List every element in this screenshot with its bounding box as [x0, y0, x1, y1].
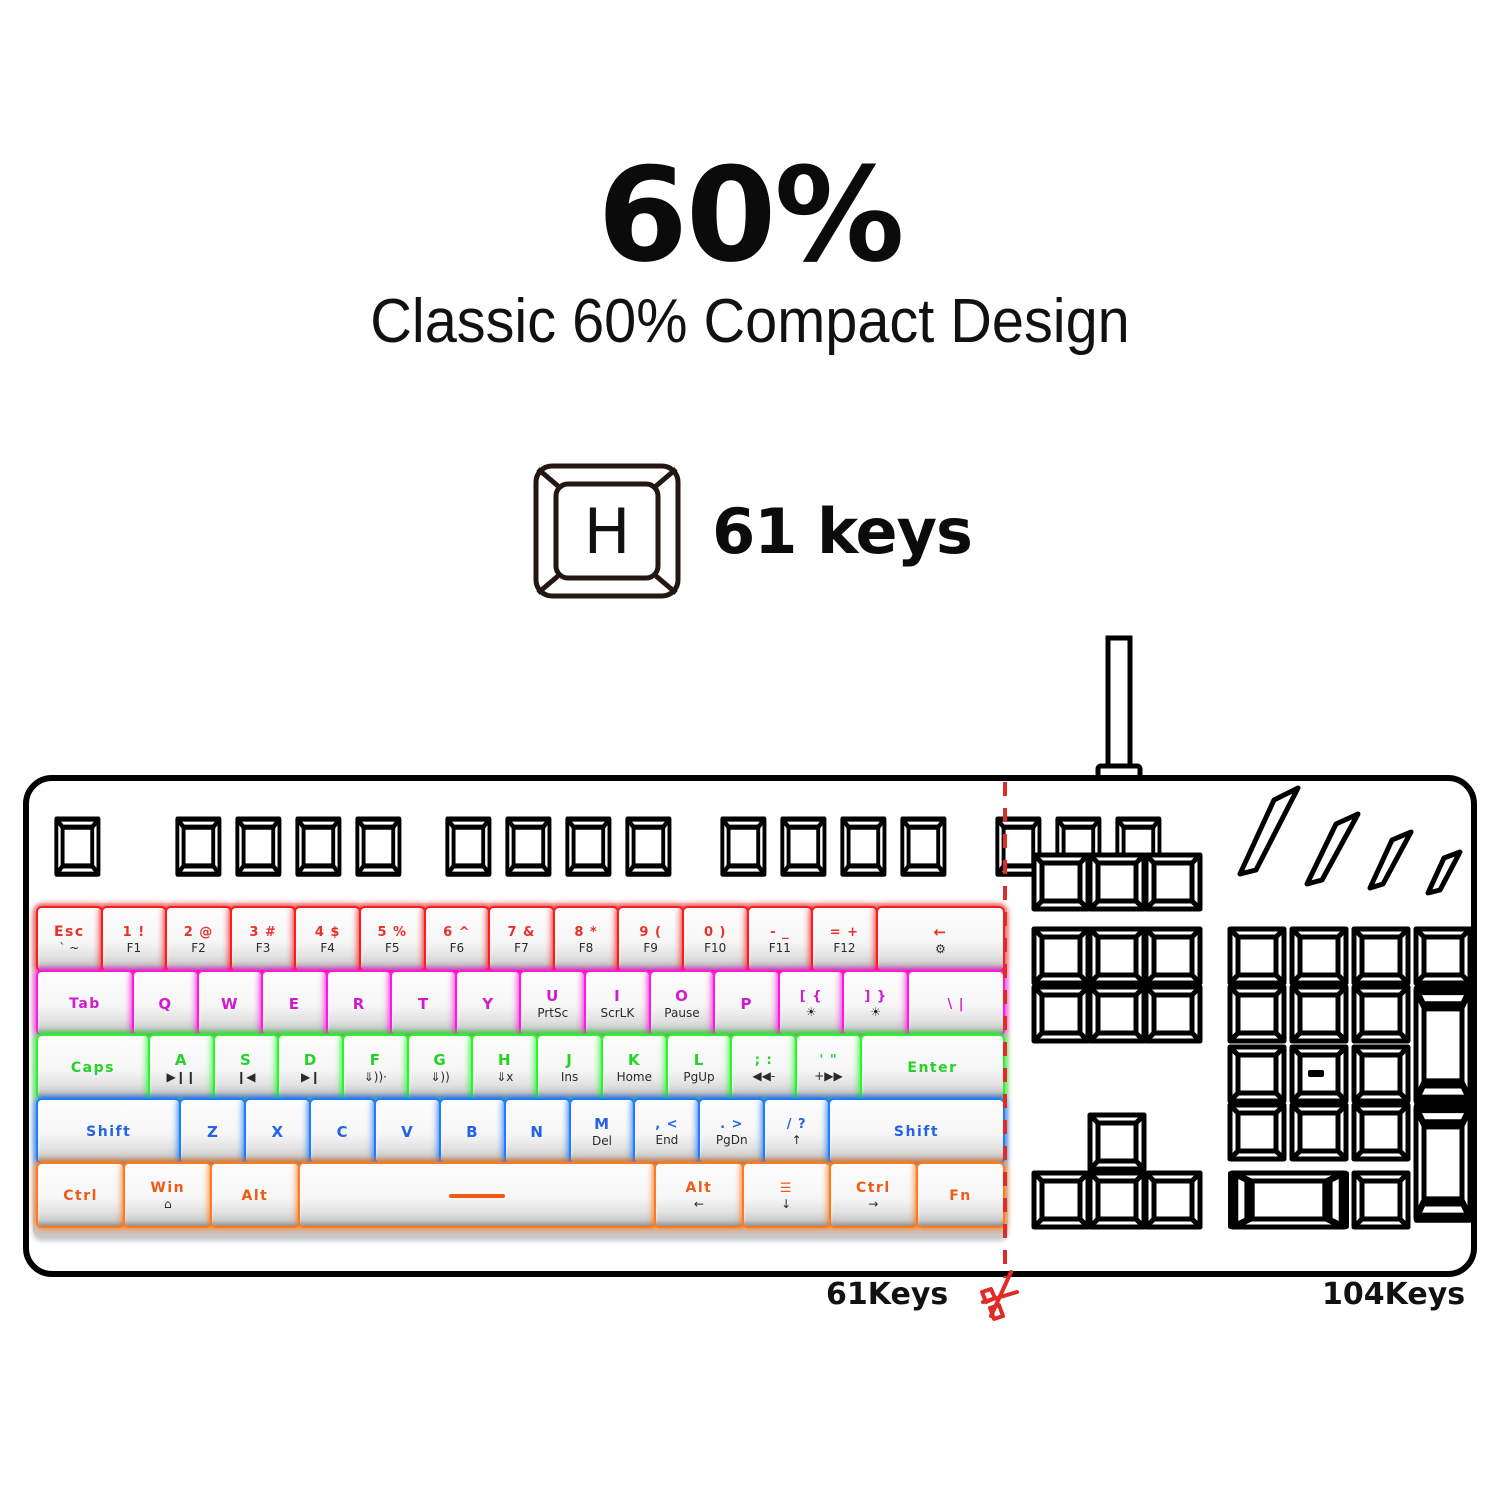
- menu-icon: ☰: [780, 1182, 793, 1195]
- key-legend-top: Y: [482, 997, 494, 1012]
- key-tab[interactable]: Tab: [38, 972, 132, 1034]
- key-legend-bottom: F10: [704, 942, 726, 955]
- key-f[interactable]: F ⇓))·: [344, 1036, 407, 1098]
- key-legend-top: Shift: [894, 1125, 939, 1139]
- key-shift-left[interactable]: Shift: [38, 1100, 179, 1162]
- key-legend-top: S: [240, 1053, 252, 1068]
- key-k[interactable]: K Home: [603, 1036, 666, 1098]
- key-i[interactable]: I ScrLK: [586, 972, 649, 1034]
- usb-cable-icon: [1098, 638, 1140, 780]
- brightness-up-icon: ☀: [806, 1006, 817, 1019]
- key-legend-top: 3 #: [249, 926, 276, 939]
- label-61-keys: 61Keys: [826, 1277, 948, 1312]
- scissors-icon: [965, 1262, 1037, 1334]
- key-legend-top: , <: [655, 1118, 678, 1131]
- keycap-icon: H: [528, 460, 686, 602]
- key-g[interactable]: G ⇓)): [409, 1036, 472, 1098]
- key-legend-top: T: [418, 997, 429, 1012]
- key-enter[interactable]: Enter: [862, 1036, 1003, 1098]
- key-m[interactable]: M Del: [571, 1100, 634, 1162]
- key-legend-top: \ |: [947, 998, 964, 1011]
- key-alt-right[interactable]: Alt ←: [656, 1164, 741, 1226]
- key-3[interactable]: 3 # F3: [232, 908, 295, 970]
- key-legend-top: Alt: [686, 1181, 713, 1195]
- key-legend-bottom: Ins: [561, 1071, 578, 1084]
- key-win[interactable]: Win ⌂: [125, 1164, 210, 1226]
- key-c[interactable]: C: [311, 1100, 374, 1162]
- key-legend-top: Q: [158, 997, 172, 1012]
- key-legend-top: Alt: [242, 1189, 269, 1203]
- rewind-icon: ◀◀-: [752, 1070, 775, 1083]
- arrow-up-icon: ↑: [792, 1134, 802, 1147]
- arrow-right-icon: →: [868, 1198, 878, 1211]
- key-legend-bottom: Home: [617, 1071, 652, 1084]
- key-legend-top: 6 ^: [443, 926, 470, 939]
- key-legend-bottom: Del: [592, 1135, 612, 1148]
- key-a[interactable]: A ▶❙❙: [150, 1036, 213, 1098]
- key-legend-top: Z: [207, 1125, 219, 1140]
- key-legend-top: N: [530, 1125, 544, 1140]
- key-legend-bottom: F2: [191, 942, 206, 955]
- keyboard-row-caps: Caps A ▶❙❙ S ❙◀ D ▶❙ F ⇓))· G ⇓)): [38, 1036, 1003, 1098]
- gear-icon: ⚙: [935, 943, 946, 956]
- key-5[interactable]: 5 % F5: [361, 908, 424, 970]
- key-legend-bottom: PgUp: [683, 1071, 714, 1084]
- key-legend-bottom: ScrLK: [601, 1007, 635, 1020]
- key-legend-bottom: End: [655, 1134, 678, 1147]
- key-v[interactable]: V: [376, 1100, 439, 1162]
- key-u[interactable]: U PrtSc: [521, 972, 584, 1034]
- key-legend-top: F: [370, 1053, 381, 1068]
- key-quote[interactable]: ' " +▶▶: [797, 1036, 860, 1098]
- key-6[interactable]: 6 ^ F6: [426, 908, 489, 970]
- keyboard-row-numbers: Esc ` ~ 1 ! F1 2 @ F2 3 # F3 4 $ F4 5 % …: [38, 908, 1003, 970]
- key-legend-bottom: F8: [579, 942, 594, 955]
- key-esc[interactable]: Esc ` ~: [38, 908, 101, 970]
- key-legend-top: Shift: [86, 1125, 131, 1139]
- arrow-down-icon: ↓: [781, 1198, 791, 1211]
- key-slash[interactable]: / ? ↑: [765, 1100, 828, 1162]
- rgb-60-percent-keyboard[interactable]: Esc ` ~ 1 ! F1 2 @ F2 3 # F3 4 $ F4 5 % …: [33, 903, 1008, 1238]
- key-ctrl-left[interactable]: Ctrl: [38, 1164, 123, 1226]
- keyboard-row-tab: Tab Q W E R T Y U PrtSc: [38, 972, 1003, 1034]
- key-minus[interactable]: - _ F11: [749, 908, 812, 970]
- key-legend-top: O: [675, 989, 689, 1004]
- key-r[interactable]: R: [328, 972, 391, 1034]
- key-l[interactable]: L PgUp: [668, 1036, 731, 1098]
- key-legend-top: = +: [830, 926, 859, 939]
- key-legend-top: G: [433, 1053, 446, 1068]
- key-capslock[interactable]: Caps: [38, 1036, 148, 1098]
- key-legend-bottom: Pause: [664, 1007, 699, 1020]
- key-1[interactable]: 1 ! F1: [103, 908, 166, 970]
- key-count-label: 61 keys: [712, 495, 972, 568]
- page-subtitle: Classic 60% Compact Design: [53, 288, 1448, 356]
- key-legend-top: [ {: [800, 990, 823, 1003]
- keyboard-rows: Esc ` ~ 1 ! F1 2 @ F2 3 # F3 4 $ F4 5 % …: [38, 908, 1003, 1232]
- key-period[interactable]: . > PgDn: [700, 1100, 763, 1162]
- key-legend-top: Esc: [54, 925, 85, 939]
- key-b[interactable]: B: [441, 1100, 504, 1162]
- key-x[interactable]: X: [246, 1100, 309, 1162]
- key-legend-bottom: F11: [769, 942, 791, 955]
- key-legend-bottom: F3: [256, 942, 271, 955]
- key-legend-top: . >: [720, 1118, 743, 1131]
- key-legend-top: A: [175, 1053, 188, 1068]
- key-n[interactable]: N: [506, 1100, 569, 1162]
- key-menu[interactable]: ☰ ↓: [744, 1164, 829, 1226]
- key-z[interactable]: Z: [181, 1100, 244, 1162]
- key-legend-top: 5 %: [377, 926, 407, 939]
- play-pause-icon: ▶❙❙: [166, 1071, 195, 1084]
- keycap-letter: H: [584, 495, 631, 568]
- windows-icon: ⌂: [164, 1198, 172, 1211]
- key-backspace[interactable]: ← ⚙: [878, 908, 1003, 970]
- key-equals[interactable]: = + F12: [813, 908, 876, 970]
- key-legend-bottom: F6: [450, 942, 465, 955]
- key-legend-top: 8 *: [574, 926, 597, 939]
- key-legend-top: 4 $: [315, 926, 341, 939]
- outline-nav-cluster-top: [1034, 855, 1200, 909]
- key-t[interactable]: T: [392, 972, 455, 1034]
- backspace-arrow-icon: ←: [934, 925, 948, 940]
- key-legend-top: 7 &: [507, 926, 535, 939]
- key-legend-top: Win: [150, 1181, 185, 1195]
- key-h[interactable]: H ⇓x: [473, 1036, 536, 1098]
- key-legend-bottom: F5: [385, 942, 400, 955]
- key-legend-top: Ctrl: [856, 1181, 891, 1195]
- key-legend-top: D: [304, 1053, 317, 1068]
- key-comma[interactable]: , < End: [635, 1100, 698, 1162]
- label-104-keys: 104Keys: [1322, 1277, 1465, 1312]
- key-legend-top: 9 (: [639, 926, 662, 939]
- key-legend-top: U: [546, 989, 559, 1004]
- key-legend-top: I: [614, 989, 621, 1004]
- volume-down-icon: ⇓)): [430, 1071, 449, 1084]
- key-legend-top: H: [498, 1053, 512, 1068]
- key-legend-bottom: PgDn: [716, 1134, 748, 1147]
- key-7[interactable]: 7 & F7: [490, 908, 553, 970]
- key-legend-top: ' ": [819, 1054, 837, 1067]
- key-legend-top: Tab: [69, 997, 101, 1011]
- key-legend-top: M: [594, 1117, 610, 1132]
- key-legend-top: K: [628, 1053, 641, 1068]
- key-fn[interactable]: Fn: [918, 1164, 1003, 1226]
- key-legend-top: X: [271, 1125, 284, 1140]
- volume-up-icon: ⇓))·: [364, 1071, 387, 1084]
- key-legend-bottom: F12: [833, 942, 855, 955]
- key-legend-bottom: F1: [127, 942, 142, 955]
- outline-nav-cluster-mid: [1034, 929, 1200, 1041]
- key-count-row: H 61 keys: [0, 460, 1500, 602]
- key-legend-top: Caps: [71, 1061, 115, 1075]
- key-legend-bottom: F7: [514, 942, 529, 955]
- next-track-icon: ▶❙: [301, 1071, 320, 1084]
- key-legend-top: P: [741, 997, 753, 1012]
- key-legend-top: Enter: [907, 1061, 957, 1075]
- fast-forward-icon: +▶▶: [814, 1070, 843, 1083]
- key-legend-top: V: [401, 1125, 414, 1140]
- key-legend-top: ] }: [864, 990, 887, 1003]
- key-y[interactable]: Y: [457, 972, 520, 1034]
- key-8[interactable]: 8 * F8: [555, 908, 618, 970]
- key-w[interactable]: W: [199, 972, 262, 1034]
- brightness-down-icon: ☀: [870, 1006, 881, 1019]
- key-4[interactable]: 4 $ F4: [296, 908, 359, 970]
- arrow-left-icon: ←: [694, 1198, 704, 1211]
- key-legend-top: J: [566, 1053, 573, 1068]
- key-shift-right[interactable]: Shift: [830, 1100, 1003, 1162]
- previous-track-icon: ❙◀: [236, 1071, 255, 1084]
- key-backslash[interactable]: \ |: [909, 972, 1003, 1034]
- keyboard-row-shift: Shift Z X C V B N M Del: [38, 1100, 1003, 1162]
- key-2[interactable]: 2 @ F2: [167, 908, 230, 970]
- key-legend-top: 1 !: [123, 926, 146, 939]
- key-legend-top: Fn: [949, 1189, 972, 1203]
- key-legend-bottom: ` ~: [59, 942, 79, 955]
- key-semicolon[interactable]: ; : ◀◀-: [732, 1036, 795, 1098]
- key-legend-top: / ?: [787, 1118, 807, 1131]
- key-9[interactable]: 9 ( F9: [619, 908, 682, 970]
- key-d[interactable]: D ▶❙: [279, 1036, 342, 1098]
- key-legend-top: Ctrl: [63, 1189, 98, 1203]
- key-alt-left[interactable]: Alt: [212, 1164, 297, 1226]
- key-legend-top: C: [337, 1125, 349, 1140]
- key-legend-top: L: [694, 1053, 705, 1068]
- key-0[interactable]: 0 ) F10: [684, 908, 747, 970]
- key-bracket-left[interactable]: [ { ☀: [780, 972, 843, 1034]
- key-space[interactable]: [300, 1164, 655, 1226]
- headline-block: 60% Classic 60% Compact Design: [0, 150, 1500, 356]
- key-legend-top: 0 ): [704, 926, 727, 939]
- key-q[interactable]: Q: [134, 972, 197, 1034]
- key-s[interactable]: S ❙◀: [215, 1036, 278, 1098]
- key-legend-top: - _: [770, 926, 789, 939]
- key-legend-bottom: F9: [643, 942, 658, 955]
- key-ctrl-right[interactable]: Ctrl →: [831, 1164, 916, 1226]
- key-e[interactable]: E: [263, 972, 326, 1034]
- key-legend-top: E: [289, 997, 300, 1012]
- key-p[interactable]: P: [715, 972, 778, 1034]
- key-legend-top: 2 @: [184, 926, 214, 939]
- key-legend-bottom: PrtSc: [537, 1007, 568, 1020]
- key-j[interactable]: J Ins: [538, 1036, 601, 1098]
- key-o[interactable]: O Pause: [651, 972, 714, 1034]
- keyboard-row-bottom: Ctrl Win ⌂ Alt Alt ← ☰ ↓ Ctrl →: [38, 1164, 1003, 1226]
- key-legend-bottom: F4: [320, 942, 335, 955]
- mute-icon: ⇓x: [496, 1071, 513, 1084]
- key-legend-top: R: [353, 997, 366, 1012]
- key-legend-top: W: [221, 997, 239, 1012]
- cut-line-divider: [1003, 782, 1007, 1278]
- spacebar-marker-icon: [449, 1194, 505, 1198]
- page-title: 60%: [0, 150, 1500, 280]
- key-legend-top: ; :: [755, 1054, 773, 1067]
- key-bracket-right[interactable]: ] } ☀: [844, 972, 907, 1034]
- key-legend-top: B: [466, 1125, 478, 1140]
